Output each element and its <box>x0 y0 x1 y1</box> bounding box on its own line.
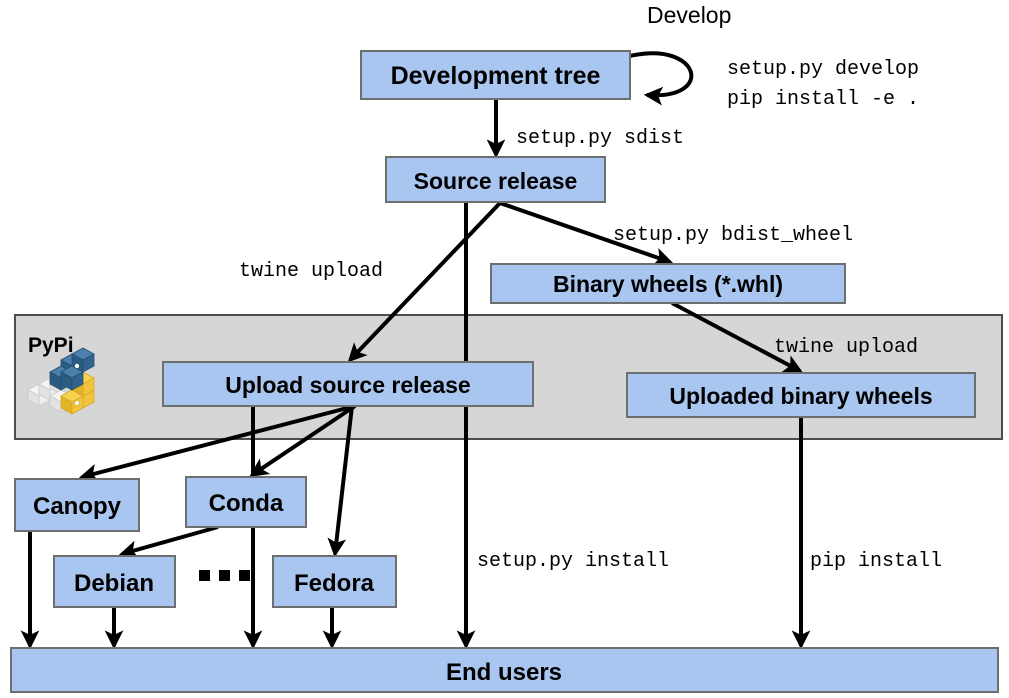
node-binary-wheels-label: Binary wheels (*.whl) <box>553 271 783 297</box>
node-canopy[interactable]: Canopy <box>15 479 139 531</box>
edge-label-develop: Develop <box>647 2 731 28</box>
diagram-canvas: PyPi <box>0 0 1009 698</box>
node-dev-tree-label: Development tree <box>391 62 601 90</box>
more-distros-ellipsis <box>199 570 250 581</box>
node-binary-wheels[interactable]: Binary wheels (*.whl) <box>491 264 845 303</box>
node-upload-source-release-label: Upload source release <box>225 372 470 398</box>
node-upload-source-release[interactable]: Upload source release <box>163 362 533 406</box>
node-end-users[interactable]: End users <box>11 648 998 692</box>
node-uploaded-binary-wheels[interactable]: Uploaded binary wheels <box>627 373 975 417</box>
edge-label-twine-upload-source: twine upload <box>239 260 383 283</box>
edge-label-setup-bdist-wheel: setup.py bdist_wheel <box>613 224 853 247</box>
node-conda[interactable]: Conda <box>186 477 306 527</box>
node-debian-label: Debian <box>74 570 154 597</box>
edge-label-twine-upload-wheels: twine upload <box>774 336 918 359</box>
node-fedora[interactable]: Fedora <box>273 556 396 607</box>
edge-label-setup-install: setup.py install <box>477 550 669 573</box>
node-source-release[interactable]: Source release <box>386 157 605 202</box>
node-end-users-label: End users <box>446 659 562 686</box>
pypi-group-label: PyPi <box>28 334 74 357</box>
edge-label-pip-install: pip install <box>810 550 942 573</box>
packaging-flow-diagram: PyPi <box>0 0 1009 698</box>
node-source-release-label: Source release <box>414 168 578 194</box>
edge-label-pip-install-editable: pip install -e . <box>727 88 919 111</box>
node-canopy-label: Canopy <box>33 493 122 520</box>
node-fedora-label: Fedora <box>294 570 375 597</box>
edge-develop-loop <box>630 53 691 95</box>
node-debian[interactable]: Debian <box>54 556 175 607</box>
node-conda-label: Conda <box>209 490 284 517</box>
edge-label-setup-sdist: setup.py sdist <box>516 127 684 150</box>
edge-label-setup-develop: setup.py develop <box>727 58 919 81</box>
node-uploaded-binary-wheels-label: Uploaded binary wheels <box>669 383 932 409</box>
node-dev-tree[interactable]: Development tree <box>361 51 630 99</box>
